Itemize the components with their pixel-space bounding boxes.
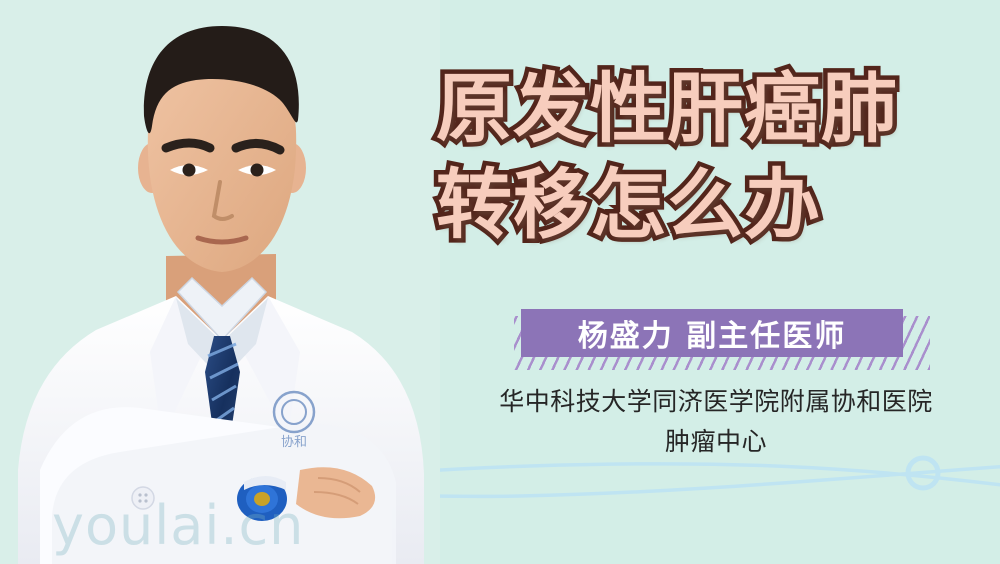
headline-title: 原发性肝癌肺 转移怎么办 xyxy=(436,62,996,252)
svg-text:协和: 协和 xyxy=(281,435,307,450)
headline-line-1: 原发性肝癌肺 xyxy=(436,62,996,156)
wave-circle-node xyxy=(908,458,938,488)
affiliation-department: 肿瘤中心 xyxy=(436,422,996,462)
eyebrow-left xyxy=(166,143,210,148)
site-watermark: youlai.cn xyxy=(52,494,304,557)
doctor-affiliation: 华中科技大学同济医学院附属协和医院 肿瘤中心 xyxy=(436,382,996,462)
video-thumbnail-card: 协和 原发性肝癌肺 转移怎么办 xyxy=(0,0,1000,564)
doctor-portrait-photo: 协和 xyxy=(0,0,440,564)
doctor-name-banner: 杨盛力 副主任医师 xyxy=(512,306,932,370)
affiliation-hospital: 华中科技大学同济医学院附属协和医院 xyxy=(436,382,996,422)
headline-line-2: 转移怎么办 xyxy=(436,158,996,252)
doctor-name-text: 杨盛力 副主任医师 xyxy=(521,309,903,357)
